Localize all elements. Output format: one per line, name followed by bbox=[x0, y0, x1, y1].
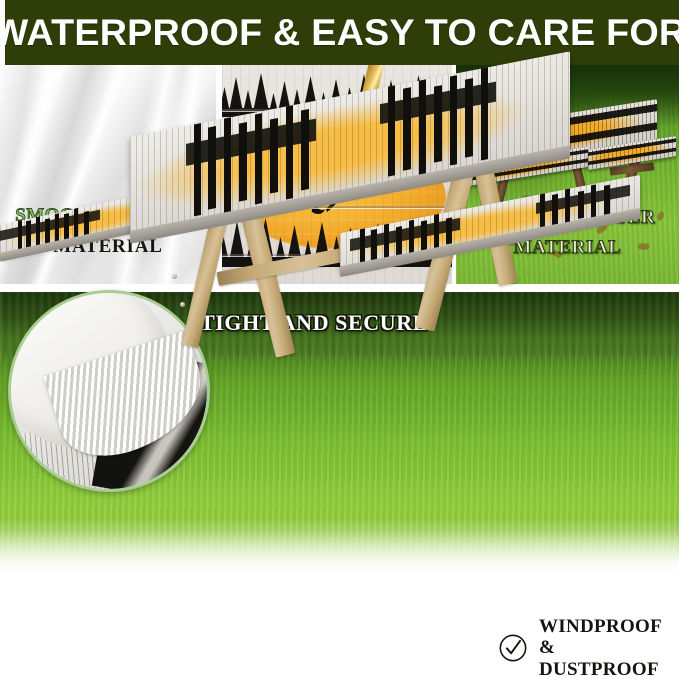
windproof-dustproof-badge: WINDPROOF & DUSTPROOF bbox=[498, 616, 679, 679]
main-picnic-table bbox=[20, 82, 679, 382]
product-feature-image: WATERPROOF & EASY TO CARE FOR SMOOTH SUR… bbox=[0, 0, 679, 679]
badge-text: WINDPROOF & DUSTPROOF bbox=[539, 616, 679, 679]
page-title: WATERPROOF & EASY TO CARE FOR bbox=[0, 0, 679, 65]
badge-line-1: WINDPROOF & bbox=[539, 616, 679, 659]
header-banner: WATERPROOF & EASY TO CARE FOR bbox=[0, 0, 679, 65]
check-circle-icon bbox=[498, 633, 528, 663]
badge-line-2: DUSTPROOF bbox=[539, 659, 679, 679]
